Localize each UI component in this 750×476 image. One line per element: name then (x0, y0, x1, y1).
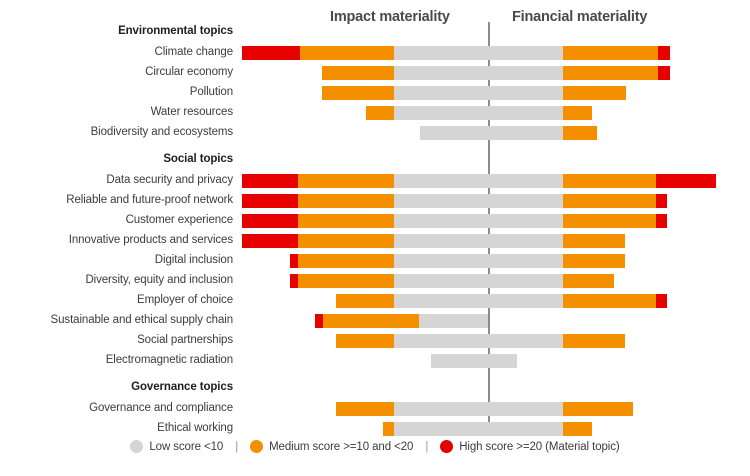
financial-high-segment (656, 174, 716, 188)
group-title-environmental-topics: Environmental topics (118, 25, 233, 37)
impact-medium-segment (298, 194, 394, 208)
financial-low-segment (488, 126, 563, 140)
financial-low-segment (488, 194, 563, 208)
financial-medium-segment (563, 402, 633, 416)
row-label: Water resources (151, 106, 233, 118)
impact-medium-segment (323, 314, 419, 328)
financial-medium-segment (563, 234, 625, 248)
impact-low-segment (420, 126, 488, 140)
financial-medium-segment (563, 194, 656, 208)
financial-high-segment (656, 214, 667, 228)
financial-low-segment (488, 254, 563, 268)
high-score-dot (440, 440, 453, 453)
impact-low-segment (419, 314, 488, 328)
legend-item-low: Low score <10 (130, 440, 223, 453)
impact-low-segment (431, 354, 488, 368)
chart-legend: Low score <10 | Medium score >=10 and <2… (0, 440, 750, 453)
financial-medium-segment (563, 254, 625, 268)
impact-medium-segment (336, 402, 394, 416)
impact-high-segment (290, 274, 298, 288)
row-label: Employer of choice (137, 294, 233, 306)
financial-low-segment (488, 46, 563, 60)
row-label: Digital inclusion (155, 254, 233, 266)
financial-medium-segment (563, 66, 658, 80)
impact-medium-segment (298, 174, 394, 188)
financial-medium-segment (563, 106, 592, 120)
impact-materiality-header: Impact materiality (330, 9, 450, 25)
row-label: Social partnerships (137, 334, 233, 346)
financial-low-segment (488, 86, 563, 100)
impact-medium-segment (322, 66, 394, 80)
impact-high-segment (290, 254, 298, 268)
financial-medium-segment (563, 334, 625, 348)
row-label: Climate change (154, 46, 233, 58)
financial-medium-segment (563, 46, 658, 60)
impact-low-segment (394, 402, 488, 416)
legend-label-low: Low score <10 (149, 441, 223, 453)
impact-high-segment (242, 214, 298, 228)
financial-medium-segment (563, 174, 656, 188)
financial-low-segment (488, 274, 563, 288)
impact-low-segment (394, 254, 488, 268)
financial-materiality-header: Financial materiality (512, 9, 647, 25)
row-label: Governance and compliance (89, 402, 233, 414)
impact-high-segment (242, 194, 298, 208)
financial-medium-segment (563, 86, 626, 100)
financial-low-segment (488, 234, 563, 248)
impact-low-segment (394, 194, 488, 208)
row-label: Innovative products and services (69, 234, 233, 246)
financial-low-segment (488, 402, 563, 416)
impact-low-segment (394, 66, 488, 80)
impact-low-segment (394, 214, 488, 228)
financial-medium-segment (563, 274, 614, 288)
financial-high-segment (656, 294, 667, 308)
impact-high-segment (242, 46, 300, 60)
row-label: Circular economy (145, 66, 233, 78)
impact-high-segment (315, 314, 323, 328)
financial-low-segment (488, 422, 563, 436)
impact-medium-segment (383, 422, 394, 436)
financial-low-segment (488, 66, 563, 80)
low-score-dot (130, 440, 143, 453)
financial-low-segment (488, 174, 563, 188)
financial-low-segment (488, 214, 563, 228)
impact-low-segment (394, 106, 488, 120)
impact-high-segment (242, 234, 298, 248)
financial-low-segment (488, 106, 563, 120)
financial-high-segment (656, 194, 667, 208)
row-label: Ethical working (157, 422, 233, 434)
legend-item-medium: Medium score >=10 and <20 (250, 440, 413, 453)
financial-medium-segment (563, 214, 656, 228)
row-label: Pollution (190, 86, 233, 98)
materiality-chart: Impact materiality Financial materiality… (0, 0, 750, 476)
impact-medium-segment (322, 86, 394, 100)
financial-medium-segment (563, 422, 592, 436)
legend-separator-2: | (420, 441, 433, 453)
group-title-governance-topics: Governance topics (131, 381, 233, 393)
impact-low-segment (394, 334, 488, 348)
impact-low-segment (394, 86, 488, 100)
row-label: Data security and privacy (106, 174, 233, 186)
legend-separator-1: | (230, 441, 243, 453)
impact-medium-segment (298, 274, 394, 288)
legend-item-high: High score >=20 (Material topic) (440, 440, 619, 453)
legend-label-high: High score >=20 (Material topic) (459, 441, 619, 453)
impact-medium-segment (298, 254, 394, 268)
row-label: Biodiversity and ecosystems (91, 126, 233, 138)
impact-medium-segment (300, 46, 394, 60)
impact-medium-segment (366, 106, 394, 120)
impact-low-segment (394, 274, 488, 288)
financial-low-segment (488, 334, 563, 348)
row-label: Electromagnetic radiation (106, 354, 233, 366)
impact-low-segment (394, 46, 488, 60)
financial-high-segment (658, 46, 670, 60)
row-label: Customer experience (126, 214, 233, 226)
financial-low-segment (488, 294, 563, 308)
financial-low-segment (488, 354, 517, 368)
row-label: Reliable and future-proof network (66, 194, 233, 206)
financial-medium-segment (563, 126, 597, 140)
impact-high-segment (242, 174, 298, 188)
financial-medium-segment (563, 294, 656, 308)
impact-low-segment (394, 294, 488, 308)
group-title-social-topics: Social topics (163, 153, 233, 165)
financial-high-segment (658, 66, 670, 80)
row-label: Sustainable and ethical supply chain (51, 314, 233, 326)
impact-low-segment (394, 174, 488, 188)
impact-medium-segment (298, 214, 394, 228)
impact-medium-segment (336, 334, 394, 348)
impact-medium-segment (336, 294, 394, 308)
legend-label-medium: Medium score >=10 and <20 (269, 441, 413, 453)
impact-medium-segment (298, 234, 394, 248)
impact-low-segment (394, 234, 488, 248)
impact-low-segment (394, 422, 488, 436)
row-label: Diversity, equity and inclusion (85, 274, 233, 286)
medium-score-dot (250, 440, 263, 453)
